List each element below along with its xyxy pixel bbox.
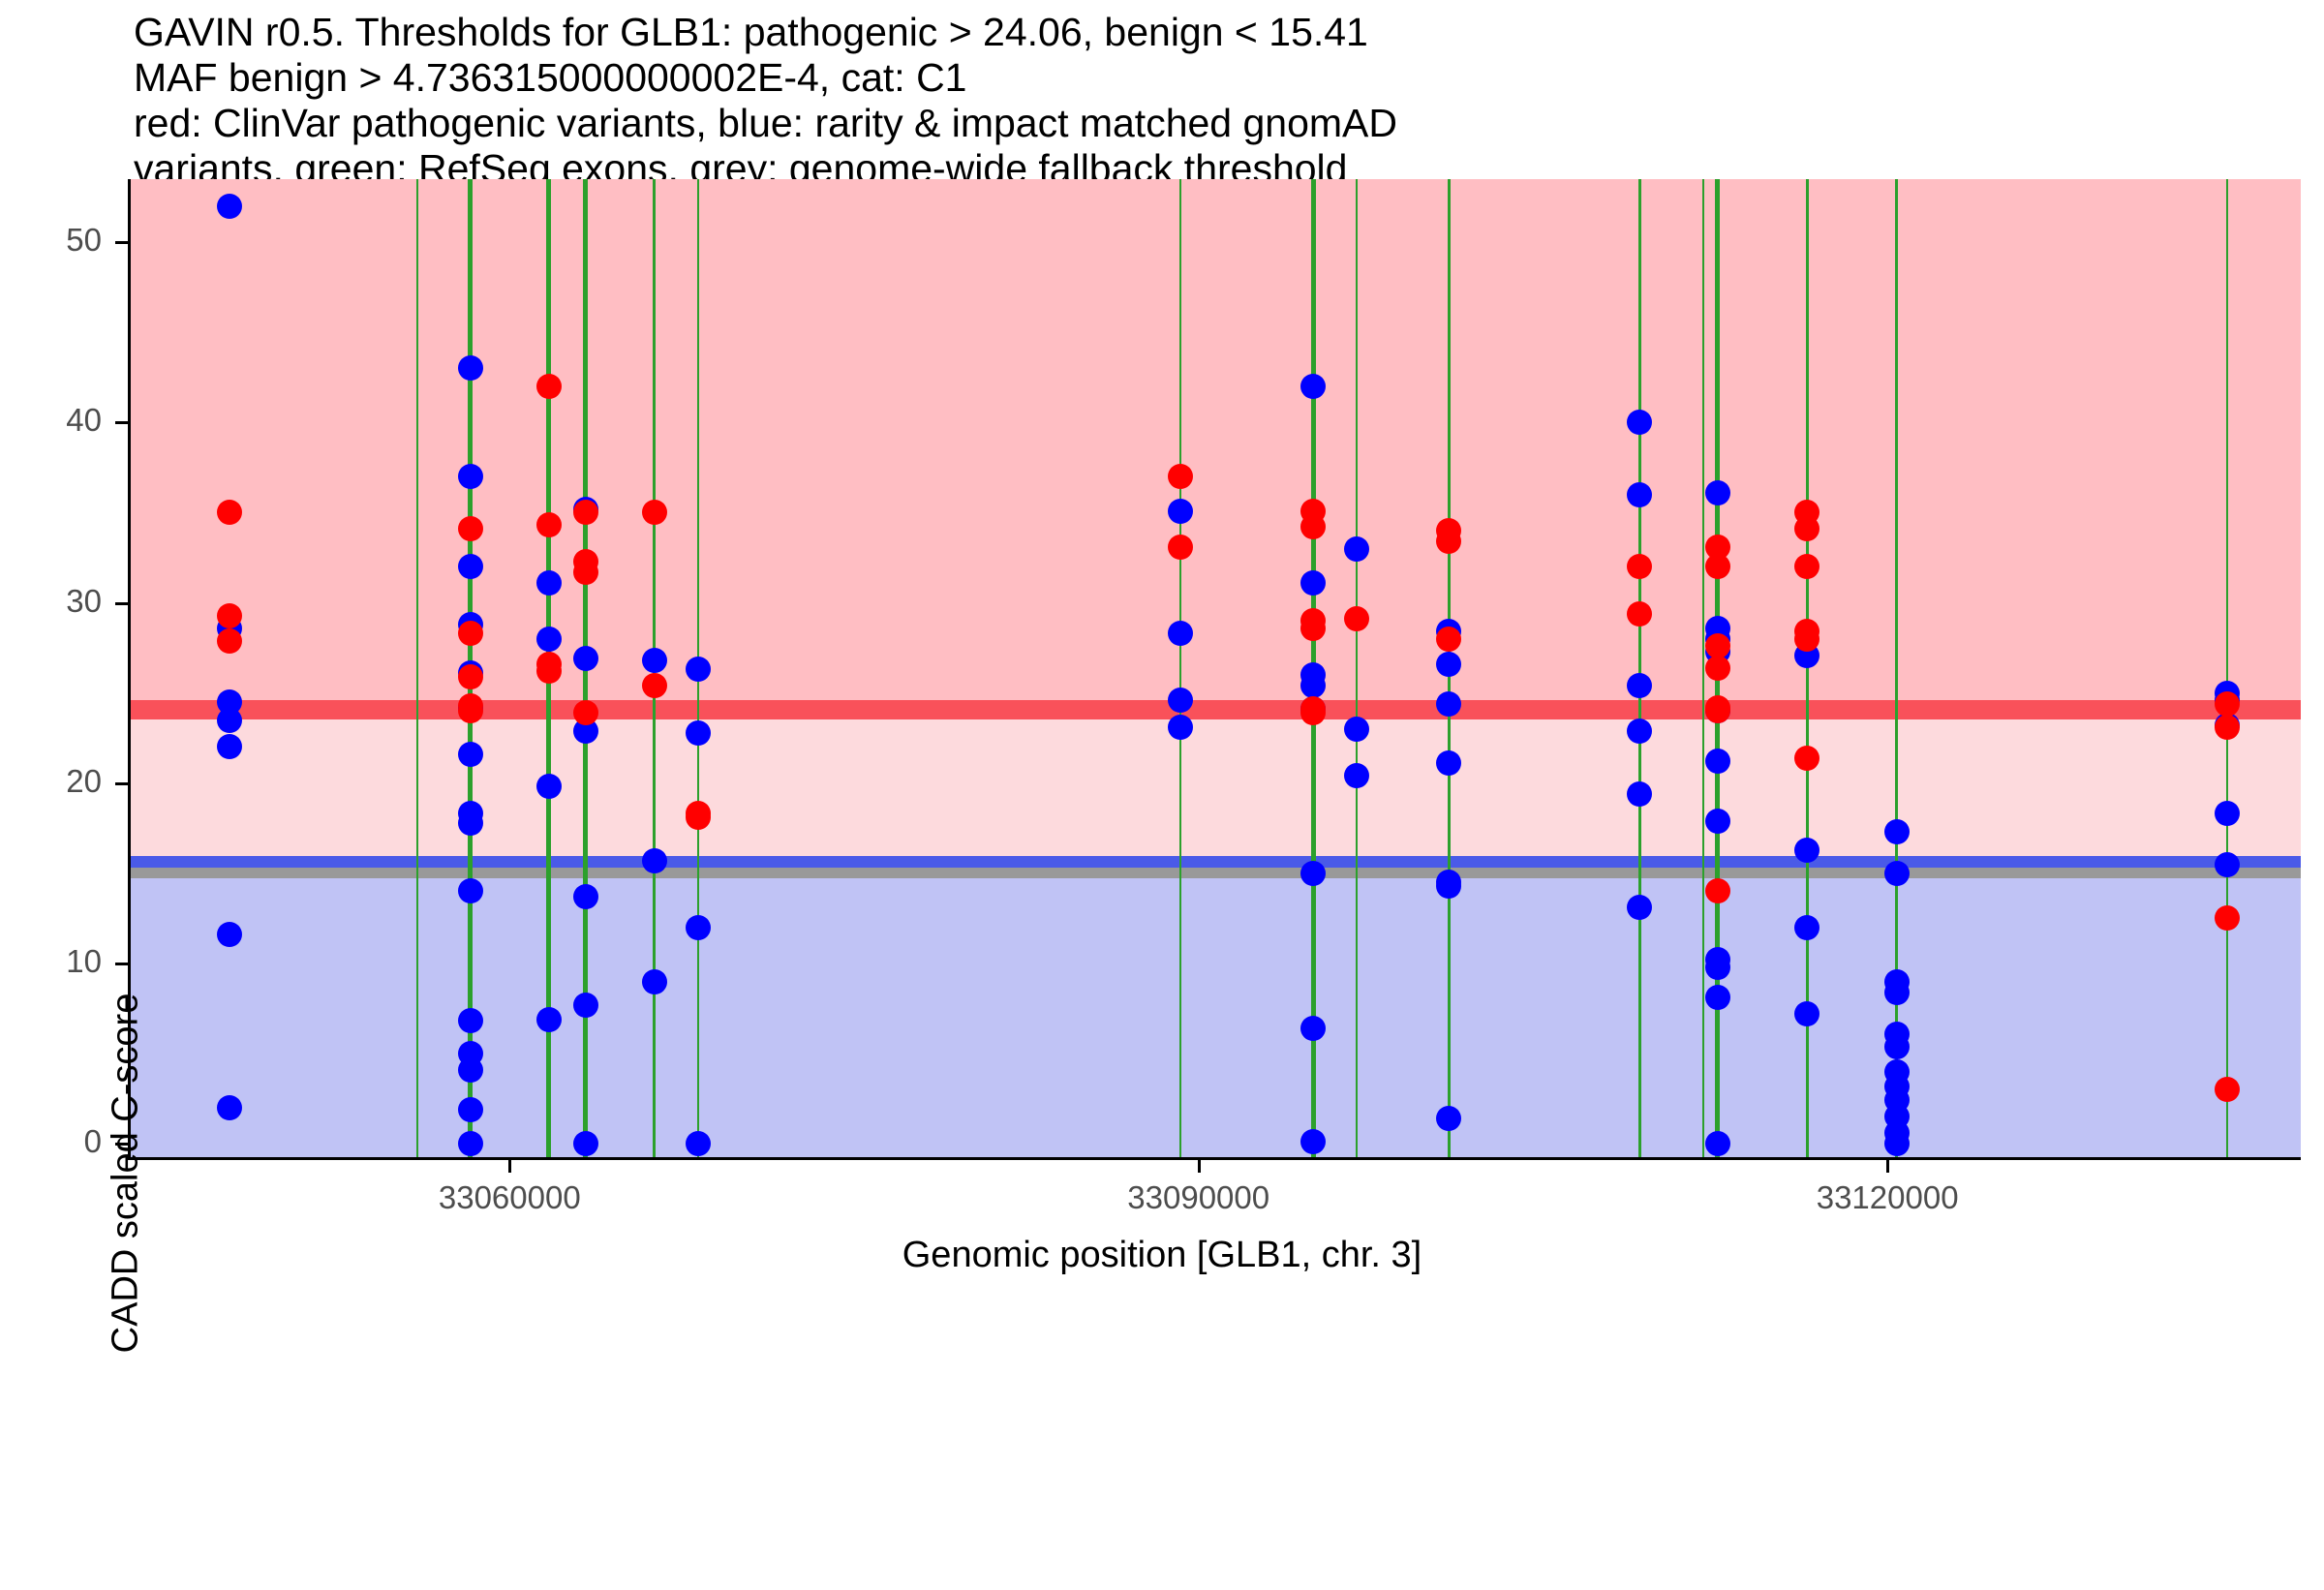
clinvar-pathogenic-point — [642, 673, 667, 698]
chart-page: GAVIN r0.5. Thresholds for GLB1: pathoge… — [0, 0, 2324, 1307]
clinvar-pathogenic-point — [458, 621, 483, 646]
gnomad-variant-point — [1168, 621, 1193, 646]
clinvar-pathogenic-point — [1168, 535, 1193, 560]
gnomad-variant-point — [536, 774, 562, 799]
clinvar-pathogenic-point — [217, 603, 242, 628]
gnomad-variant-point — [1705, 809, 1730, 834]
x-tick-mark — [1198, 1160, 1201, 1173]
plot-panel — [131, 179, 2301, 1158]
fallback-threshold-line — [131, 868, 2301, 878]
y-tick-label: 10 — [0, 943, 102, 980]
gnomad-variant-point — [686, 915, 711, 940]
clinvar-pathogenic-point — [2215, 715, 2240, 740]
gnomad-variant-point — [1705, 749, 1730, 774]
clinvar-pathogenic-point — [458, 664, 483, 689]
x-tick-mark — [1886, 1160, 1889, 1173]
gnomad-variant-point — [1705, 1131, 1730, 1156]
gnomad-variant-point — [573, 993, 598, 1018]
gnomad-variant-point — [2215, 852, 2240, 877]
x-tick-mark — [508, 1160, 511, 1173]
clinvar-pathogenic-point — [686, 801, 711, 826]
gnomad-variant-point — [1884, 980, 1910, 1005]
gnomad-variant-point — [217, 1095, 242, 1120]
clinvar-pathogenic-point — [1436, 627, 1461, 652]
gnomad-variant-point — [1705, 985, 1730, 1010]
gnomad-variant-point — [1705, 955, 1730, 980]
gnomad-variant-point — [642, 969, 667, 994]
gnomad-variant-point — [686, 657, 711, 682]
exon-line — [1895, 179, 1898, 1158]
x-axis-title: Genomic position [GLB1, chr. 3] — [0, 1235, 2324, 1276]
exon-line — [1179, 179, 1181, 1158]
exon-line — [1356, 179, 1358, 1158]
gnomad-variant-point — [1884, 1131, 1910, 1156]
y-tick-mark — [115, 602, 129, 605]
clinvar-pathogenic-point — [1705, 656, 1730, 681]
gnomad-variant-point — [1884, 819, 1910, 844]
gnomad-variant-point — [458, 1057, 483, 1083]
clinvar-pathogenic-point — [536, 374, 562, 399]
gnomad-variant-point — [573, 884, 598, 909]
y-tick-mark — [115, 421, 129, 424]
clinvar-pathogenic-point — [2215, 691, 2240, 717]
gnomad-variant-point — [536, 627, 562, 652]
gnomad-variant-point — [686, 720, 711, 746]
clinvar-pathogenic-point — [217, 628, 242, 654]
clinvar-pathogenic-point — [642, 500, 667, 525]
clinvar-pathogenic-point — [573, 500, 598, 525]
clinvar-pathogenic-point — [1705, 695, 1730, 720]
gnomad-variant-point — [1627, 482, 1652, 507]
gnomad-variant-point — [1168, 715, 1193, 740]
gnomad-variant-point — [1627, 781, 1652, 807]
y-axis-title: CADD scaled C-score — [106, 757, 147, 1590]
x-tick-label: 33120000 — [1742, 1179, 2033, 1216]
clinvar-pathogenic-point — [1794, 627, 1819, 652]
clinvar-pathogenic-point — [573, 700, 598, 725]
gnomad-variant-point — [1884, 1034, 1910, 1059]
pathogenic-threshold-line — [131, 700, 2301, 719]
title-line-2: MAF benign > 4.736315000000002E-4, cat: … — [134, 55, 2167, 101]
vus-band — [131, 710, 2301, 866]
y-tick-label: 50 — [0, 222, 102, 259]
clinvar-pathogenic-point — [536, 512, 562, 537]
gnomad-variant-point — [1168, 688, 1193, 713]
exon-line — [2226, 179, 2228, 1158]
exon-line — [1638, 179, 1641, 1158]
gnomad-variant-point — [1794, 915, 1819, 940]
gnomad-variant-point — [458, 742, 483, 767]
gnomad-variant-point — [217, 194, 242, 219]
chart-title: GAVIN r0.5. Thresholds for GLB1: pathoge… — [134, 10, 2167, 192]
clinvar-pathogenic-point — [1627, 601, 1652, 627]
gnomad-variant-point — [1300, 861, 1326, 886]
gnomad-variant-point — [1436, 691, 1461, 717]
gnomad-variant-point — [458, 1097, 483, 1122]
y-tick-label: 30 — [0, 583, 102, 620]
clinvar-pathogenic-point — [573, 560, 598, 585]
gnomad-variant-point — [217, 708, 242, 733]
gnomad-variant-point — [458, 1131, 483, 1156]
benign-band — [131, 866, 2301, 1158]
clinvar-pathogenic-point — [1168, 464, 1193, 489]
clinvar-pathogenic-point — [1705, 554, 1730, 579]
exon-line — [416, 179, 418, 1158]
gnomad-variant-point — [686, 1131, 711, 1156]
y-axis-title-wrap: CADD scaled C-score — [60, 668, 61, 669]
y-tick-label: 0 — [0, 1123, 102, 1160]
gnomad-variant-point — [642, 648, 667, 673]
gnomad-variant-point — [1794, 1001, 1819, 1026]
y-tick-mark — [115, 241, 129, 244]
gnomad-variant-point — [1168, 499, 1193, 524]
gnomad-variant-point — [573, 1131, 598, 1156]
gnomad-variant-point — [1627, 719, 1652, 744]
gnomad-variant-point — [1436, 873, 1461, 899]
gnomad-variant-point — [1794, 838, 1819, 863]
gnomad-variant-point — [536, 570, 562, 596]
title-line-1: GAVIN r0.5. Thresholds for GLB1: pathoge… — [134, 10, 2167, 55]
clinvar-pathogenic-point — [458, 516, 483, 541]
clinvar-pathogenic-point — [536, 658, 562, 684]
gnomad-variant-point — [1436, 652, 1461, 677]
x-tick-label: 33090000 — [1054, 1179, 1344, 1216]
x-axis-line — [131, 1157, 2301, 1160]
gnomad-variant-point — [217, 922, 242, 947]
x-tick-label: 33060000 — [364, 1179, 655, 1216]
gnomad-variant-point — [536, 1007, 562, 1032]
y-tick-label: 40 — [0, 402, 102, 439]
gnomad-variant-point — [1344, 536, 1369, 562]
clinvar-pathogenic-point — [1300, 616, 1326, 641]
clinvar-pathogenic-point — [1705, 878, 1730, 903]
gnomad-variant-point — [573, 646, 598, 671]
title-line-3: red: ClinVar pathogenic variants, blue: … — [134, 101, 2167, 146]
gnomad-variant-point — [642, 848, 667, 873]
gnomad-variant-point — [1344, 717, 1369, 742]
gnomad-variant-point — [458, 464, 483, 489]
y-tick-label: 20 — [0, 763, 102, 800]
pathogenic-band — [131, 179, 2301, 710]
gnomad-variant-point — [1705, 480, 1730, 505]
clinvar-pathogenic-point — [1794, 746, 1819, 771]
gnomad-variant-point — [458, 810, 483, 836]
gnomad-variant-point — [1884, 861, 1910, 886]
